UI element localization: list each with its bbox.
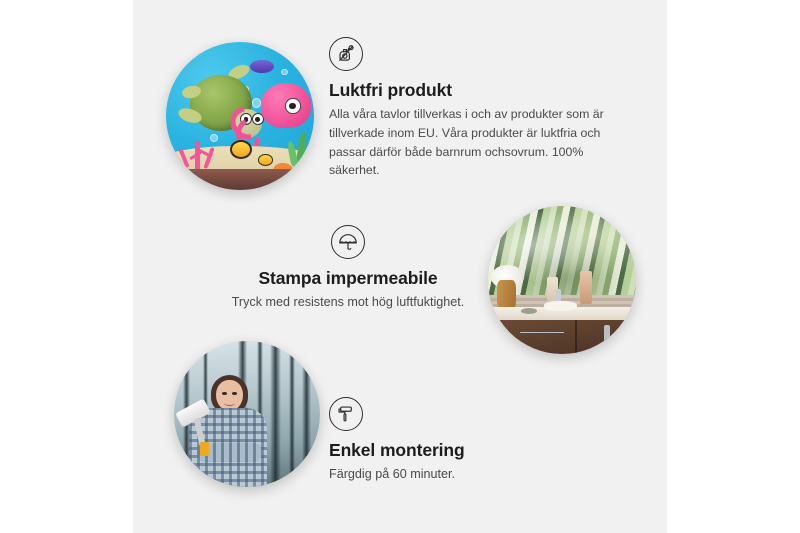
feature-easy-mounting: Enkel montering Färgdig på 60 minuter. — [329, 397, 609, 484]
feature-title: Stampa impermeabile — [193, 268, 503, 288]
forest-artwork — [174, 341, 320, 487]
soap-dish — [521, 308, 537, 314]
person-eye — [222, 392, 226, 395]
bubble-icon — [252, 98, 261, 107]
fish-blue — [250, 60, 274, 73]
feature-body: Alla våra tavlor tillverkas i och av pro… — [329, 105, 622, 180]
feature-body: Färgdig på 60 minuter. — [329, 465, 609, 484]
tree-trunk — [302, 341, 311, 487]
decor-bottle — [580, 271, 592, 304]
screenshot-root: Luktfri produkt Alla våra tavlor tillver… — [0, 0, 800, 533]
no-scent-spray-bottle-icon — [329, 37, 363, 71]
feature-odourless: Luktfri produkt Alla våra tavlor tillver… — [329, 37, 622, 180]
image-ocean-mural — [166, 42, 314, 190]
coral — [175, 134, 225, 172]
sink — [544, 301, 577, 311]
paint-roller-grip — [200, 442, 209, 457]
bubble-icon — [281, 69, 287, 75]
ocean-floor — [166, 169, 314, 190]
feature-title: Enkel montering — [329, 440, 609, 460]
feature-title: Luktfri produkt — [329, 80, 622, 100]
feature-waterproof: Stampa impermeabile Tryck med resistens … — [193, 225, 503, 312]
fish-yellow — [230, 140, 252, 159]
paint-roller-icon — [329, 397, 363, 431]
image-bathroom-mural — [488, 206, 636, 354]
person-face — [216, 380, 242, 411]
fish-yellow — [258, 154, 273, 166]
content-panel: Luktfri produkt Alla våra tavlor tillver… — [133, 0, 667, 533]
octopus-eye — [285, 98, 300, 113]
feature-body: Tryck med resistens mot hög luftfuktighe… — [193, 293, 503, 312]
image-forest-mural — [174, 341, 320, 487]
vanity-cabinet — [500, 320, 636, 354]
person-eye — [232, 392, 236, 395]
tree-trunk — [289, 341, 295, 487]
ocean-artwork — [166, 42, 314, 190]
bathroom-artwork — [488, 206, 636, 354]
tree-trunk — [270, 341, 280, 487]
umbrella-icon — [331, 225, 365, 259]
